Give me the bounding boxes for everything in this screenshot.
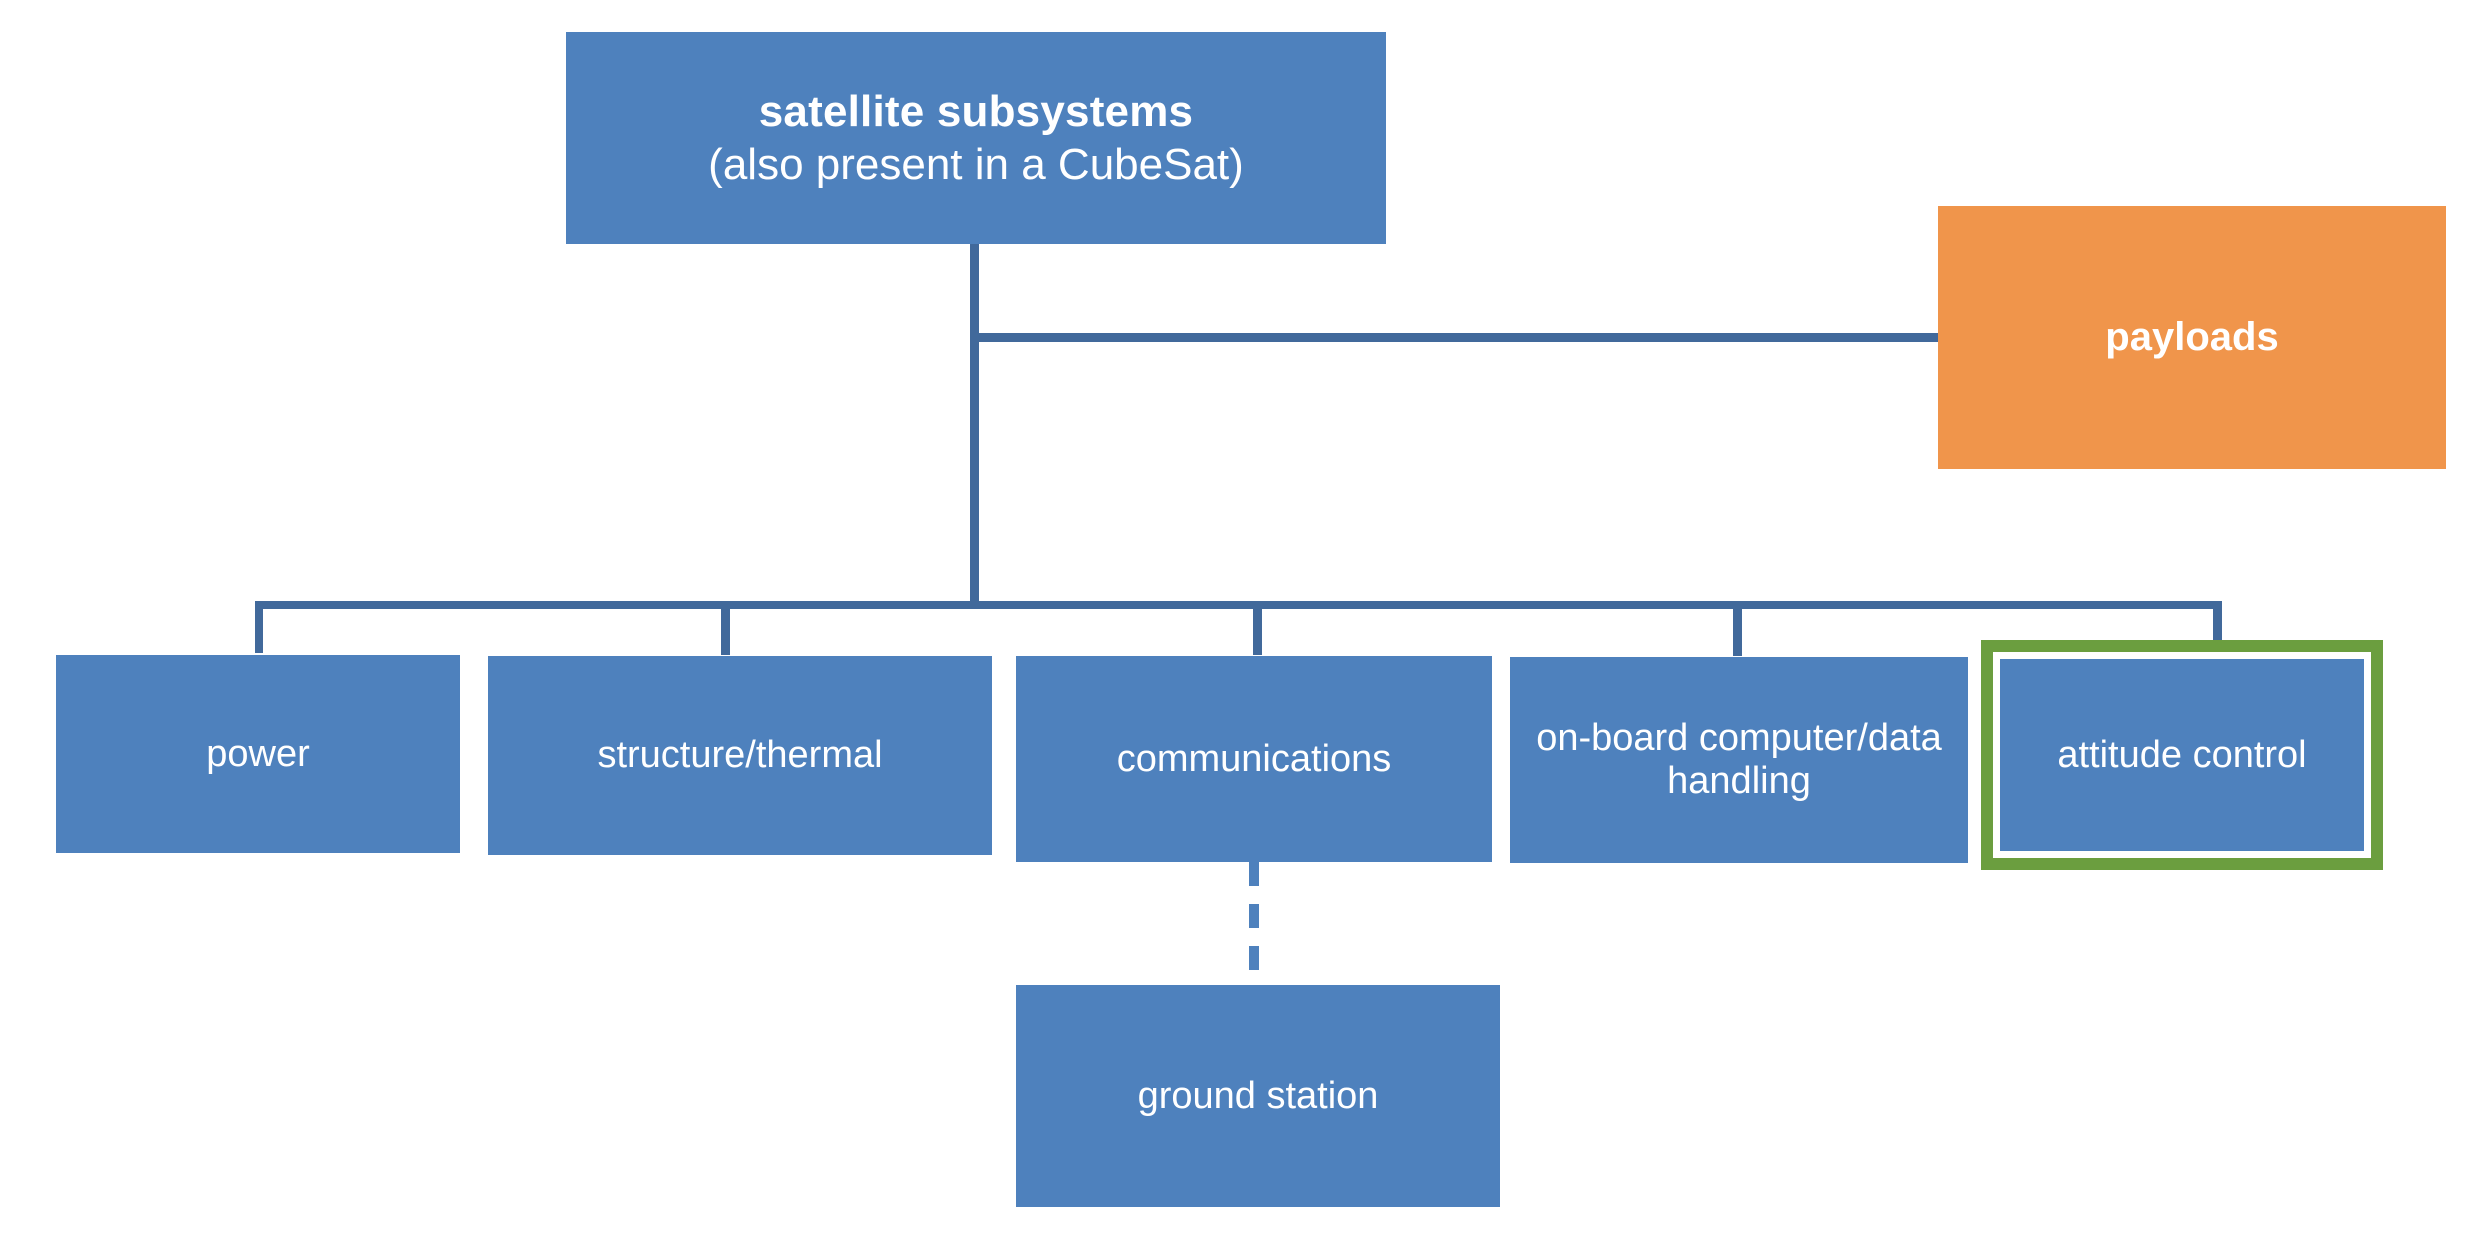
- node-onboard-computer-data-handling[interactable]: on-board computer/data handling: [1510, 657, 1968, 863]
- connector-root-to-bus: [970, 244, 979, 609]
- node-attitude-control-label: attitude control: [2010, 734, 2354, 777]
- node-structure-thermal[interactable]: structure/thermal: [488, 656, 992, 855]
- connector-bus-to-communications: [1253, 601, 1262, 655]
- highlight-frame-attitude-control: attitude control: [1981, 640, 2383, 870]
- connector-communications-to-ground-station: [1249, 862, 1259, 986]
- connector-bus-to-onboard-computer: [1733, 601, 1742, 656]
- node-structure-thermal-label: structure/thermal: [498, 734, 982, 777]
- node-power-label: power: [66, 733, 450, 776]
- node-power[interactable]: power: [56, 655, 460, 853]
- node-onboard-computer-data-handling-label: on-board computer/data handling: [1520, 717, 1958, 802]
- diagram-canvas: satellite subsystems (also present in a …: [0, 0, 2488, 1244]
- connector-root-to-payloads: [970, 333, 1940, 342]
- connector-bus-to-power: [255, 601, 263, 653]
- node-communications-label: communications: [1026, 738, 1482, 781]
- node-payloads-label: payloads: [1948, 315, 2436, 360]
- node-attitude-control[interactable]: attitude control: [2000, 659, 2364, 851]
- node-communications[interactable]: communications: [1016, 656, 1492, 862]
- connector-bus-to-attitude-control: [2213, 601, 2222, 641]
- connector-bus-to-structure-thermal: [721, 601, 730, 655]
- node-satellite-subsystems[interactable]: satellite subsystems (also present in a …: [566, 32, 1386, 244]
- highlight-inner-gap-attitude-control: attitude control: [1993, 652, 2371, 858]
- connector-subsystem-bus: [255, 601, 2221, 609]
- node-satellite-subsystems-title: satellite subsystems: [576, 87, 1376, 136]
- node-ground-station[interactable]: ground station: [1016, 985, 1500, 1207]
- node-payloads[interactable]: payloads: [1938, 206, 2446, 469]
- node-satellite-subsystems-subtitle: (also present in a CubeSat): [576, 140, 1376, 189]
- node-ground-station-label: ground station: [1026, 1075, 1490, 1118]
